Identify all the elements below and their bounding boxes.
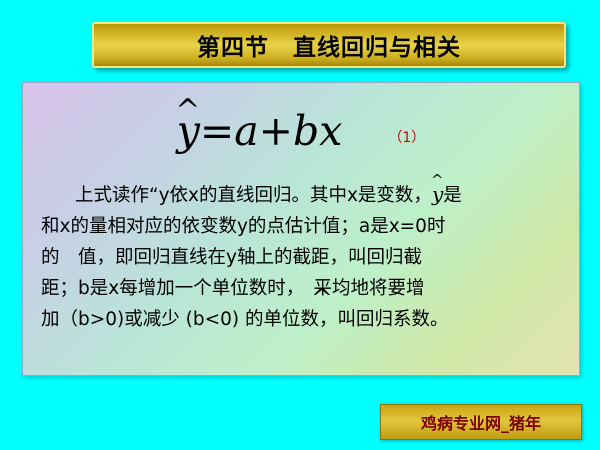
title-banner: 第四节 直线回归与相关 bbox=[92, 22, 566, 68]
content-panel: ^y=a+bx（1） 上式读作“y依x的直线回归。其中x是变数，^y是 和x的量… bbox=[22, 82, 580, 376]
paragraph-line-1-text: 上式读作“y依x的直线回归。其中x是变数， bbox=[75, 185, 432, 206]
hat-accent-icon: ^ bbox=[175, 96, 200, 126]
paragraph-line-1-tail: 是 bbox=[443, 185, 462, 206]
y-hat-symbol: ^y bbox=[177, 107, 200, 155]
slide: 第四节 直线回归与相关 ^y=a+bx（1） 上式读作“y依x的直线回归。其中x… bbox=[0, 0, 600, 450]
hat-accent-icon: ^ bbox=[431, 173, 444, 188]
formula-row: ^y=a+bx（1） bbox=[23, 107, 579, 155]
paragraph-line-4: 距；b是x每增加一个单位数时， 平均地将要增 bbox=[41, 273, 565, 304]
formula-rhs: =a+bx bbox=[200, 107, 343, 155]
body-paragraph: 上式读作“y依x的直线回归。其中x是变数，^y是 和x的量相对应的依变数y的点估… bbox=[41, 179, 565, 335]
paragraph-line-1: 上式读作“y依x的直线回归。其中x是变数，^y是 bbox=[41, 179, 565, 211]
formula-expression: ^y=a+bx bbox=[177, 107, 343, 155]
inline-y-hat-1-wrap: ^y bbox=[432, 179, 443, 210]
equation-number: （1） bbox=[388, 130, 425, 146]
paragraph-line-5: 加（b>0)或减少 (b<0) 的单位数，叫回归系数。 bbox=[41, 304, 565, 335]
footer-watermark-text: 鸡病专业网_猪年 bbox=[421, 410, 541, 434]
stray-hat-accent-icon: ^ bbox=[311, 286, 333, 312]
inline-y-hat-1: ^y bbox=[432, 182, 443, 206]
page-title: 第四节 直线回归与相关 bbox=[197, 28, 461, 62]
paragraph-line-3: 的 值，即回归直线在y轴上的截距，叫回归截 bbox=[41, 242, 565, 273]
paragraph-line-2: 和x的量相对应的依变数y的点估计值；a是x=0时 bbox=[41, 211, 565, 242]
footer-watermark: 鸡病专业网_猪年 bbox=[380, 404, 582, 440]
